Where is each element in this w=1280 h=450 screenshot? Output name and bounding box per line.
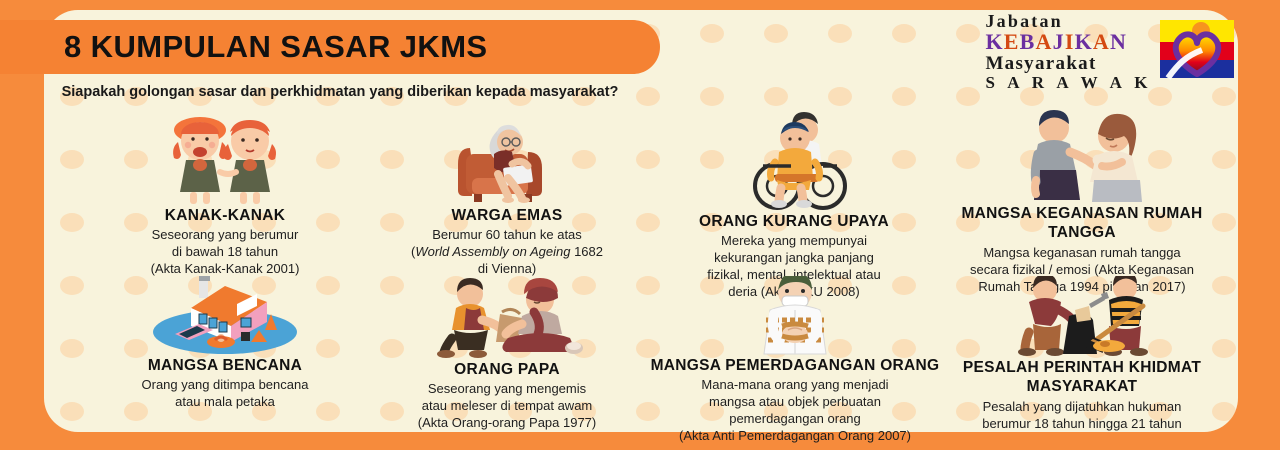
card-title: ORANG PAPA — [362, 360, 652, 379]
domestic-violence-icon — [932, 108, 1232, 204]
logo-letter: K — [985, 29, 1003, 54]
subtitle-question: Siapakah golongan sasar dan perkhidmatan… — [60, 82, 620, 103]
card-title-text: PESALAH PERINTAH KHIDMAT MASYARAKAT — [963, 359, 1201, 395]
two-children-icon — [80, 108, 370, 206]
logo-line-jabatan: Jabatan — [985, 12, 1152, 30]
background-dot — [956, 87, 980, 106]
background-dot — [764, 24, 788, 43]
logo-letter: N — [1110, 29, 1127, 54]
logo-letter: B — [1020, 29, 1036, 54]
page-title: 8 KUMPULAN SASAR JKMS — [64, 29, 488, 65]
card-title: ORANG KURANG UPAYA — [644, 212, 944, 231]
background-dot — [828, 87, 852, 106]
background-dot — [956, 24, 980, 43]
target-groups-grid: KANAK-KANAK Seseorang yang berumur di ba… — [44, 108, 1238, 438]
card-pesalah-perintah-khidmat-masyarakat: PESALAH PERINTAH KHIDMAT MASYARAKAT Pesa… — [932, 276, 1232, 433]
jkms-logo: Jabatan KEBAJIKAN Masyarakat S A R A W A… — [985, 12, 1238, 91]
logo-text-block: Jabatan KEBAJIKAN Masyarakat S A R A W A… — [985, 12, 1152, 91]
card-description: Berumur 60 tahun ke atas (World Assembly… — [362, 227, 652, 278]
background-dot — [892, 87, 916, 106]
card-orang-kurang-upaya: ORANG KURANG UPAYA Mereka yang mempunyai… — [644, 108, 944, 301]
logo-line-masyarakat: Masyarakat — [985, 54, 1152, 73]
community-service-icon — [932, 276, 1232, 358]
logo-letter: J — [1053, 29, 1065, 54]
card-mangsa-pemerdagangan-orang: MANGSA PEMERDAGANGAN ORANG Mana-mana ora… — [640, 276, 950, 445]
logo-letter: A — [1036, 29, 1053, 54]
elderly-woman-armchair-icon — [362, 108, 652, 206]
logo-line-sarawak: S A R A W A K — [985, 74, 1152, 91]
card-kanak-kanak: KANAK-KANAK Seseorang yang berumur di ba… — [80, 108, 370, 278]
logo-letter: E — [1004, 29, 1020, 54]
card-title: KANAK-KANAK — [80, 206, 370, 225]
background-dot — [700, 24, 724, 43]
logo-line-kebajikan: KEBAJIKAN — [985, 31, 1152, 53]
infographic-root: 8 KUMPULAN SASAR JKMS Jabatan KEBAJIKAN … — [0, 0, 1280, 450]
logo-letter: I — [1065, 29, 1075, 54]
card-mangsa-keganasan-rumah-tangga: MANGSA KEGANASAN RUMAH TANGGA Mangsa keg… — [932, 108, 1232, 295]
card-title-text: MANGSA KEGANASAN RUMAH TANGGA — [961, 205, 1202, 241]
card-orang-papa: ORANG PAPA Seseorang yang mengemis atau … — [362, 276, 652, 432]
card-description: Mana-mana orang yang menjadi mangsa atau… — [640, 377, 950, 445]
card-title: MANGSA PEMERDAGANGAN ORANG — [640, 356, 950, 375]
homeless-aid-icon — [362, 276, 652, 360]
card-mangsa-bencana: MANGSA BENCANA Orang yang ditimpa bencan… — [80, 276, 370, 411]
card-description: Pesalah yang dijatuhkan hukuman berumur … — [932, 399, 1232, 433]
card-description: Seseorang yang mengemis atau meleser di … — [362, 381, 652, 432]
roped-person-icon — [640, 276, 950, 356]
card-italic-reference: World Assembly on Ageing — [415, 244, 570, 259]
card-title: PESALAH PERINTAH KHIDMAT MASYARAKAT — [932, 358, 1232, 397]
card-title: MANGSA BENCANA — [80, 356, 370, 375]
card-warga-emas: WARGA EMAS Berumur 60 tahun ke atas (Wor… — [362, 108, 652, 278]
background-dot — [892, 24, 916, 43]
logo-letter: K — [1075, 29, 1093, 54]
heart-logo-icon — [1156, 16, 1238, 82]
card-description: Seseorang yang berumur di bawah 18 tahun… — [80, 227, 370, 278]
background-dot — [764, 87, 788, 106]
background-dot — [636, 87, 660, 106]
flooded-house-icon — [80, 276, 370, 356]
wheelchair-person-icon — [644, 108, 944, 212]
card-description: Orang yang ditimpa bencana atau mala pet… — [80, 377, 370, 411]
logo-letter: A — [1093, 29, 1110, 54]
background-dot — [700, 87, 724, 106]
background-dot — [828, 24, 852, 43]
card-title: WARGA EMAS — [362, 206, 652, 225]
card-title: MANGSA KEGANASAN RUMAH TANGGA — [932, 204, 1232, 243]
title-banner: 8 KUMPULAN SASAR JKMS — [0, 20, 660, 74]
